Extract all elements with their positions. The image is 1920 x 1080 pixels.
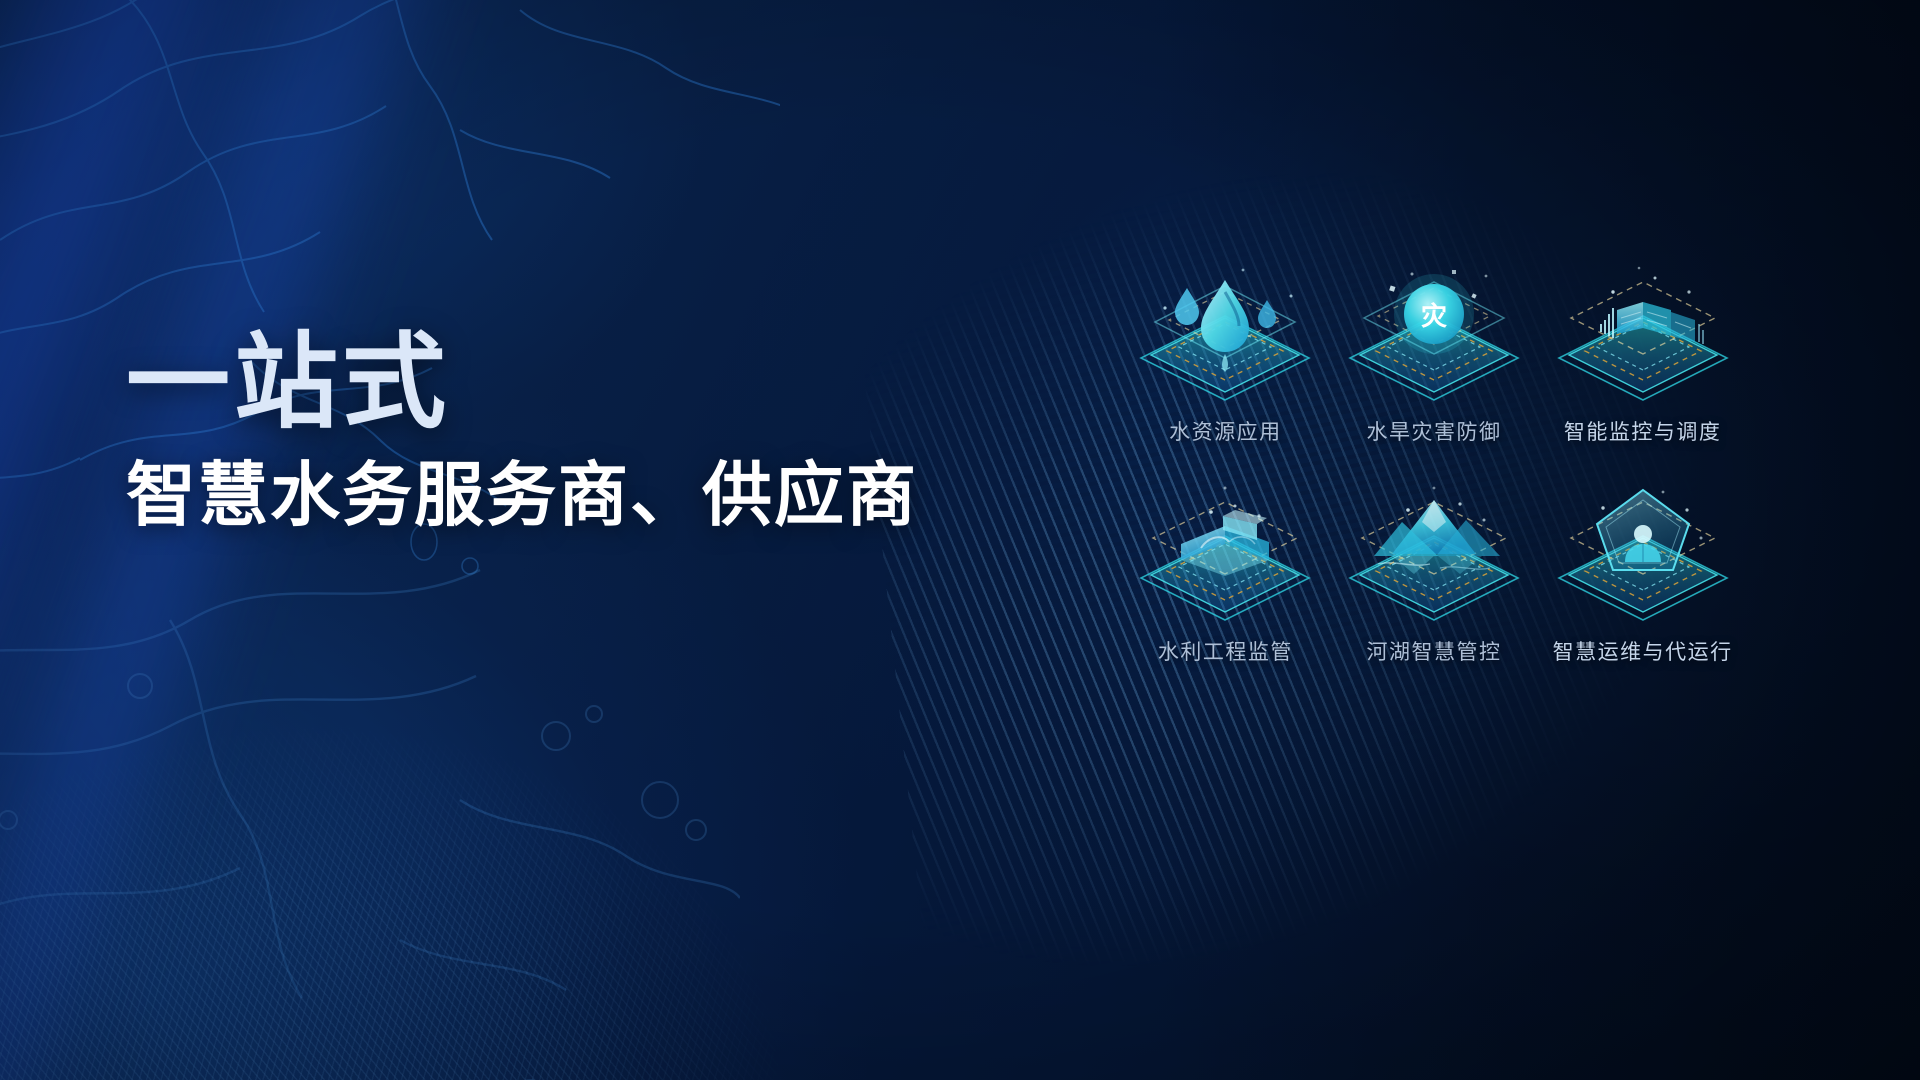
page-title: 一站式 bbox=[126, 330, 918, 436]
capability-label: 水资源应用 bbox=[1169, 416, 1282, 446]
capability-label: 水旱灾害防御 bbox=[1366, 416, 1501, 446]
diagonal-light-band bbox=[0, 0, 439, 1080]
capability-label: 水利工程监管 bbox=[1158, 636, 1293, 666]
disaster-glyph: 灾 bbox=[1421, 301, 1447, 331]
headline-block: 一站式 智慧水务服务商、供应商 bbox=[126, 330, 918, 532]
capability-item-river-lake-control[interactable]: 河湖智慧管控 bbox=[1333, 482, 1536, 702]
slide-canvas: 一站式 智慧水务服务商、供应商 bbox=[0, 0, 1920, 1080]
page-subtitle: 智慧水务服务商、供应商 bbox=[126, 458, 918, 532]
capability-item-hydraulic-engineering[interactable]: 水利工程监管 bbox=[1124, 482, 1327, 702]
capability-item-water-resource[interactable]: 水资源应用 bbox=[1124, 262, 1327, 482]
shield-operator-platform-icon bbox=[1543, 482, 1743, 632]
diagonal-light-band-secondary bbox=[0, 0, 534, 1080]
capability-icon-grid: 水资源应用 bbox=[1124, 262, 1744, 702]
capability-label: 智能监控与调度 bbox=[1564, 416, 1722, 446]
disaster-sphere-platform-icon: 灾 bbox=[1334, 262, 1534, 412]
water-splash-texture-bottom bbox=[0, 500, 740, 1080]
capability-label: 智慧运维与代运行 bbox=[1553, 636, 1733, 666]
capability-item-smart-monitoring[interactable]: 智能监控与调度 bbox=[1541, 262, 1744, 482]
dam-structure-platform-icon bbox=[1125, 482, 1325, 632]
mountain-river-platform-icon bbox=[1334, 482, 1534, 632]
capability-label: 河湖智慧管控 bbox=[1366, 636, 1501, 666]
capability-item-smart-operations[interactable]: 智慧运维与代运行 bbox=[1541, 482, 1744, 702]
capability-item-flood-drought-defense[interactable]: 灾 水旱灾害防御 bbox=[1333, 262, 1536, 482]
water-droplet-platform-icon bbox=[1125, 262, 1325, 412]
monitoring-screens-platform-icon bbox=[1543, 262, 1743, 412]
